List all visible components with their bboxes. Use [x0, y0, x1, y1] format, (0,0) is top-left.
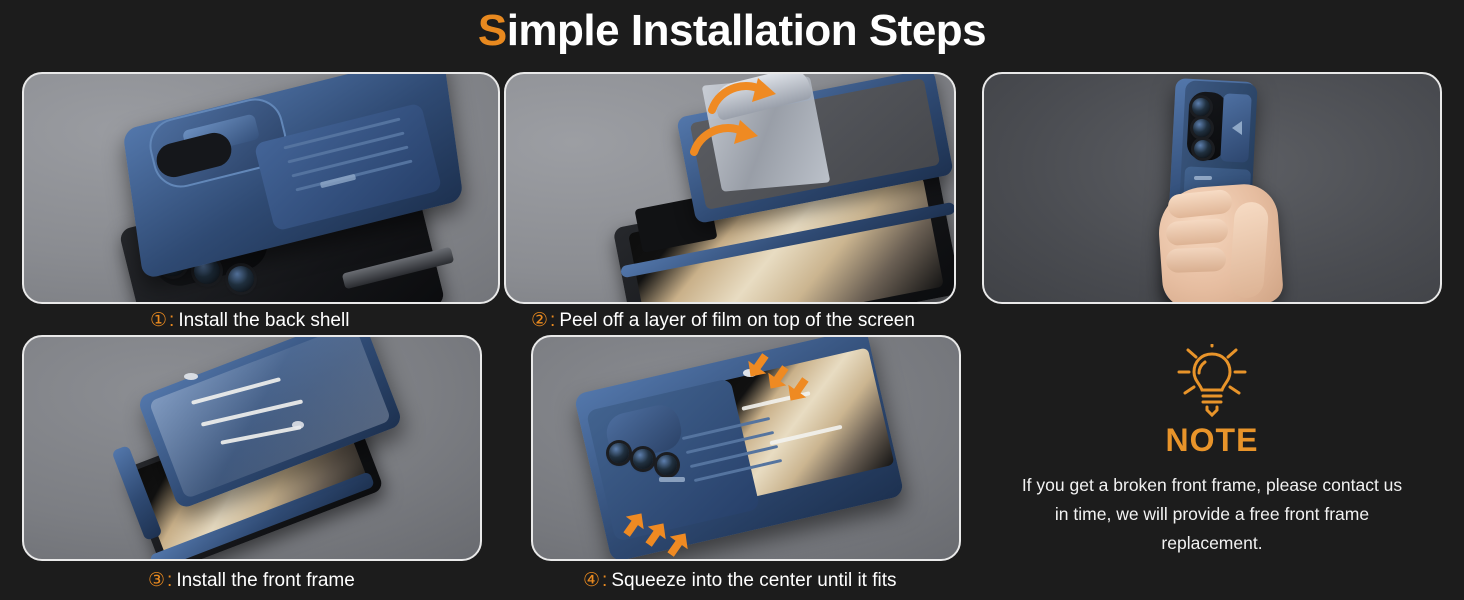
page-title: Simple Installation Steps — [0, 6, 1464, 56]
lightbulb-icon — [1173, 344, 1251, 420]
step-1-separator: : — [169, 310, 174, 331]
hero-illustration — [984, 74, 1440, 302]
step-4-caption: ④:Squeeze into the center until it fits — [583, 569, 897, 592]
step-3-caption: ③:Install the front frame — [148, 569, 355, 592]
step-3-number: ③ — [148, 569, 165, 592]
note-title: NOTE — [982, 422, 1442, 459]
camera-lens-3 — [228, 266, 254, 292]
step-3-image-panel — [22, 335, 482, 561]
page-title-accent-letter: S — [478, 6, 507, 55]
step-3-illustration — [24, 337, 480, 559]
peel-arrow-upper — [706, 76, 776, 122]
held-camera-lens-3 — [1194, 140, 1212, 158]
step-4-separator: : — [602, 570, 607, 591]
case-camera-lens-3 — [657, 455, 677, 475]
step-2-label: Peel off a layer of film on top of the s… — [559, 310, 915, 331]
page-title-rest: imple Installation Steps — [507, 6, 986, 55]
glass-reflection-dot — [292, 421, 304, 429]
hero-image-panel — [982, 72, 1442, 304]
step-4-image-panel — [531, 335, 961, 561]
step-2-number: ② — [531, 309, 548, 332]
step-2-separator: : — [550, 310, 555, 331]
step-3-label: Install the front frame — [176, 570, 354, 591]
step-1-label: Install the back shell — [178, 310, 349, 331]
step-3-separator: : — [167, 570, 172, 591]
step-4-illustration — [533, 337, 959, 559]
step-1-number: ① — [150, 309, 167, 332]
front-frame-camera-hole — [184, 373, 198, 380]
case-camera-lens-1 — [609, 443, 629, 463]
note-section: NOTE If you get a broken front frame, pl… — [982, 344, 1442, 558]
held-slider-arrow-icon — [1232, 121, 1242, 135]
held-camera-lens-2 — [1193, 119, 1211, 137]
hand-finger-2 — [1165, 218, 1229, 246]
step-1-image-panel — [22, 72, 500, 304]
held-brand-mark — [1194, 176, 1212, 180]
case-brand-mark — [659, 477, 685, 482]
note-body: If you get a broken front frame, please … — [982, 471, 1442, 558]
hand-finger-3 — [1166, 247, 1227, 273]
held-camera-lens-1 — [1192, 98, 1210, 116]
step-4-label: Squeeze into the center until it fits — [611, 570, 896, 591]
peel-arrow-lower — [688, 118, 758, 164]
case-camera-lens-2 — [633, 449, 653, 469]
hand-thumb — [1229, 201, 1270, 299]
step-1-illustration — [24, 74, 498, 302]
step-1-caption: ①:Install the back shell — [150, 309, 349, 332]
step-2-image-panel — [504, 72, 956, 304]
step-4-number: ④ — [583, 569, 600, 592]
step-2-caption: ②:Peel off a layer of film on top of the… — [531, 309, 915, 332]
step-2-illustration — [506, 74, 954, 302]
